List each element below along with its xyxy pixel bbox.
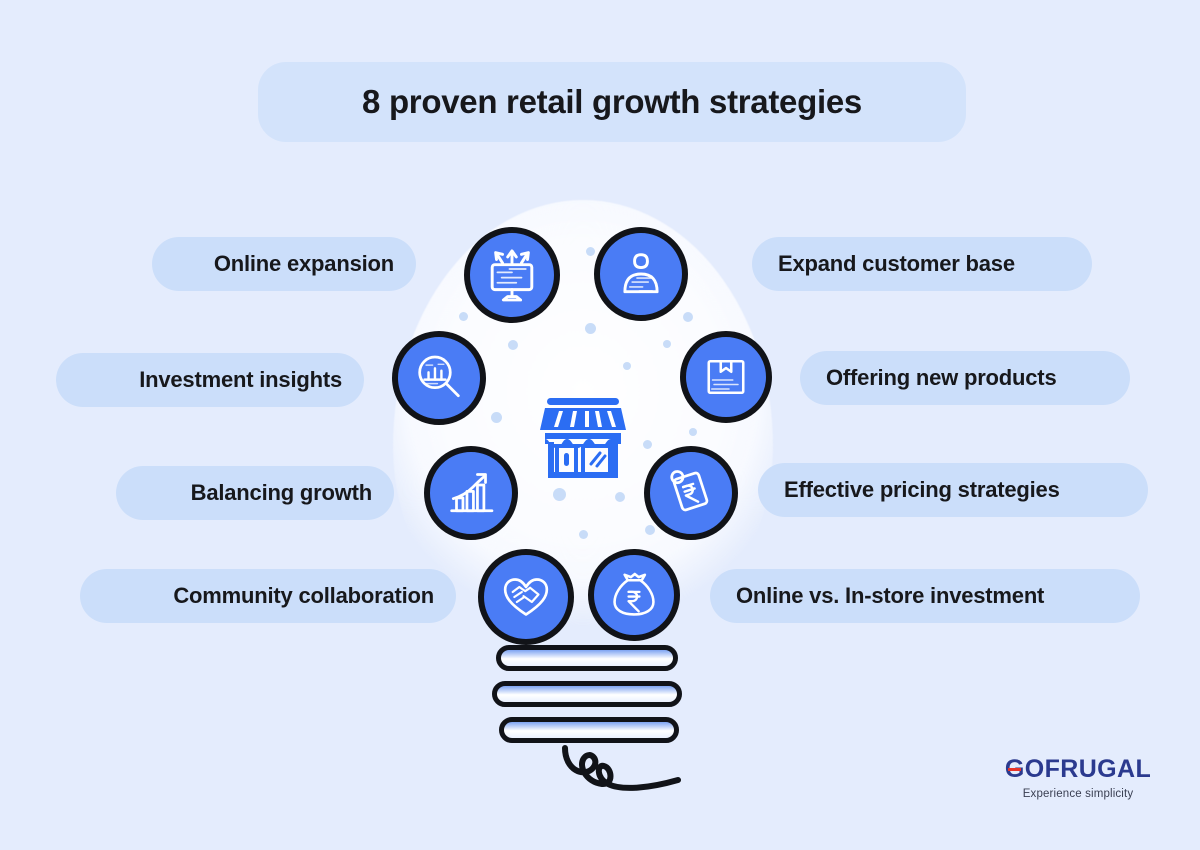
person-customer-icon	[612, 245, 670, 303]
growth-chart-arrow-icon	[442, 464, 500, 522]
label-investment-insights: Investment insights	[139, 367, 342, 393]
bulb-dot	[623, 362, 631, 370]
handshake-heart-icon	[496, 567, 556, 627]
bulb-filament-squiggle	[560, 740, 735, 802]
label-pill-effective-pricing-strategies[interactable]: Effective pricing strategies	[758, 463, 1148, 517]
icon-circle-effective-pricing-strategies[interactable]	[644, 446, 738, 540]
label-expand-customer-base: Expand customer base	[778, 251, 1015, 277]
label-pill-balancing-growth[interactable]: Balancing growth	[116, 466, 394, 520]
icon-circle-offering-new-products[interactable]	[680, 331, 772, 423]
logo-text: GOFRUGAL	[1005, 755, 1151, 783]
bulb-dot	[491, 412, 502, 423]
label-pill-expand-customer-base[interactable]: Expand customer base	[752, 237, 1092, 291]
icon-circle-online-expansion[interactable]	[464, 227, 560, 323]
bulb-dot	[689, 428, 697, 436]
infographic-canvas: 8 proven retail growth strategies	[0, 0, 1200, 850]
magnifier-bar-chart-icon	[410, 349, 468, 407]
label-community-collaboration: Community collaboration	[173, 583, 434, 609]
bulb-dot	[459, 312, 468, 321]
icon-circle-online-vs-instore-investment[interactable]	[588, 549, 680, 641]
label-pill-online-expansion[interactable]: Online expansion	[152, 237, 416, 291]
label-offering-new-products: Offering new products	[826, 365, 1056, 391]
page-title-pill: 8 proven retail growth strategies	[258, 62, 966, 142]
bulb-dot	[579, 530, 588, 539]
label-balancing-growth: Balancing growth	[191, 480, 372, 506]
icon-circle-investment-insights[interactable]	[392, 331, 486, 425]
bulb-base-band	[492, 681, 682, 707]
bulb-dot	[508, 340, 518, 350]
bulb-dot	[645, 525, 655, 535]
bulb-dot	[585, 323, 596, 334]
bulb-dot	[553, 488, 566, 501]
bulb-base-band	[496, 645, 678, 671]
bulb-dot	[683, 312, 693, 322]
icon-circle-expand-customer-base[interactable]	[594, 227, 688, 321]
page-title: 8 proven retail growth strategies	[362, 83, 862, 121]
bulb-dot	[586, 247, 595, 256]
logo-wordmark: GOFRUGAL	[1005, 757, 1151, 782]
label-pill-investment-insights[interactable]: Investment insights	[56, 353, 364, 407]
label-effective-pricing-strategies: Effective pricing strategies	[784, 477, 1060, 503]
icon-circle-balancing-growth[interactable]	[424, 446, 518, 540]
label-online-expansion: Online expansion	[214, 251, 394, 277]
label-pill-offering-new-products[interactable]: Offering new products	[800, 351, 1130, 405]
bulb-dot	[663, 340, 671, 348]
label-pill-community-collaboration[interactable]: Community collaboration	[80, 569, 456, 623]
logo-accent-bar	[1008, 768, 1021, 771]
label-online-vs-instore-investment: Online vs. In-store investment	[736, 583, 1044, 609]
retail-store-icon	[537, 392, 629, 484]
bulb-dot	[615, 492, 625, 502]
logo-tagline: Experience simplicity	[1003, 788, 1153, 800]
bulb-dot	[643, 440, 652, 449]
package-box-icon	[699, 350, 753, 404]
money-bag-rupee-icon	[606, 567, 662, 623]
label-pill-online-vs-instore-investment[interactable]: Online vs. In-store investment	[710, 569, 1140, 623]
icon-circle-community-collaboration[interactable]	[478, 549, 574, 645]
price-tag-rupee-icon	[662, 464, 720, 522]
gofrugal-logo: GOFRUGAL Experience simplicity	[1003, 757, 1153, 800]
monitor-growth-arrows-icon	[481, 244, 543, 306]
